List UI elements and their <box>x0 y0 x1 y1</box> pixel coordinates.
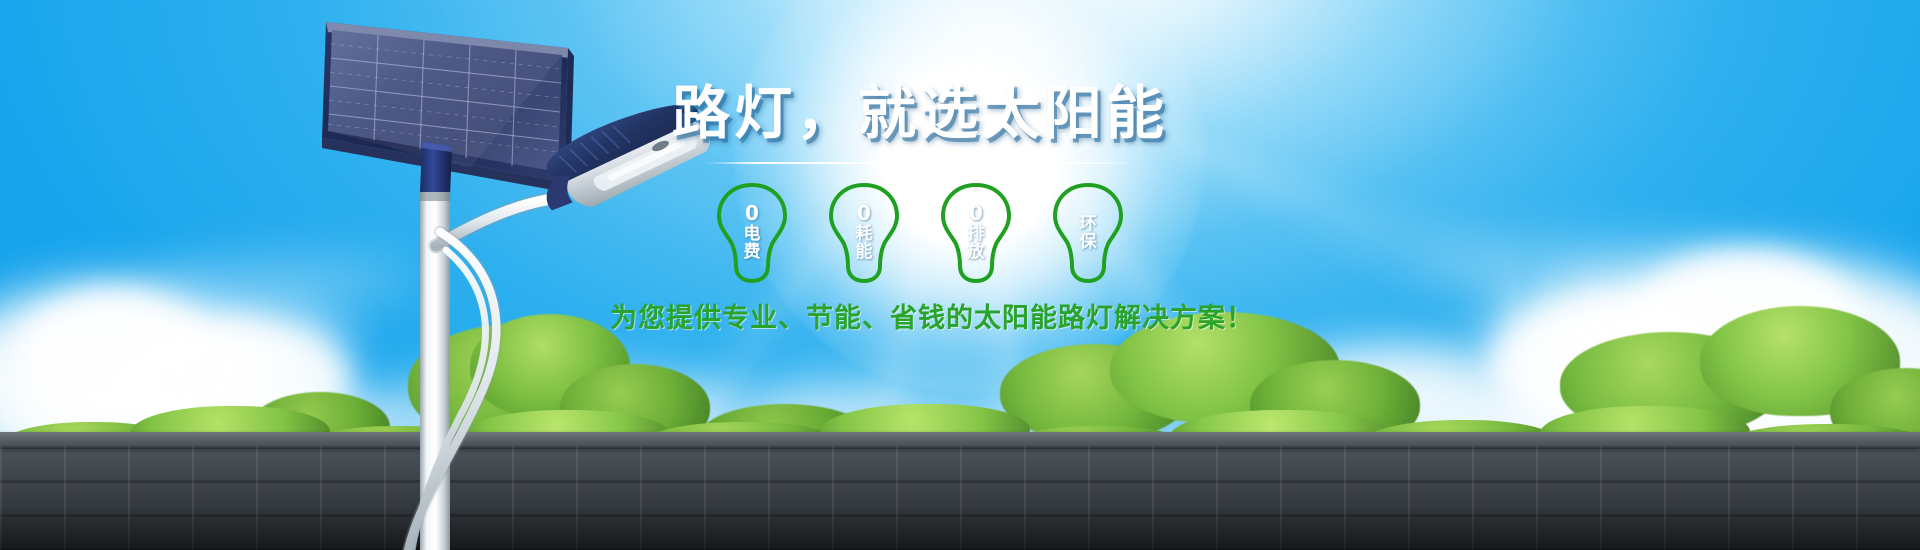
feature-badge-value: 0 <box>745 203 759 223</box>
feature-badge-label: 电费 <box>737 225 767 261</box>
feature-badge-value: 0 <box>969 203 983 223</box>
page-title: 路灯，就选太阳能 <box>610 84 1230 142</box>
feature-badge-label: 耗能 <box>849 225 879 261</box>
title-divider <box>705 162 1135 164</box>
panel-mount <box>420 142 452 196</box>
feature-badge-0[interactable]: 0 电费 <box>710 180 794 284</box>
stone-wall <box>0 432 1920 550</box>
feature-badge-label: 环保 <box>1073 215 1103 251</box>
feature-badge-label: 排放 <box>961 225 991 261</box>
banner-subtitle: 为您提供专业、节能、省钱的太阳能路灯解决方案！ <box>610 296 1230 335</box>
solar-street-light-banner: 路灯，就选太阳能 0 电费 0 耗能 <box>0 0 1920 550</box>
banner-copy: 路灯，就选太阳能 0 电费 0 耗能 <box>610 84 1230 384</box>
wall-shadow <box>0 504 1920 550</box>
feature-badge-3[interactable]: 环保 <box>1046 180 1130 284</box>
feature-badge-1[interactable]: 0 耗能 <box>822 180 906 284</box>
feature-badge-value: 0 <box>857 203 871 223</box>
feature-badge-2[interactable]: 0 排放 <box>934 180 1018 284</box>
feature-badge-list: 0 电费 0 耗能 0 排放 <box>610 180 1230 284</box>
